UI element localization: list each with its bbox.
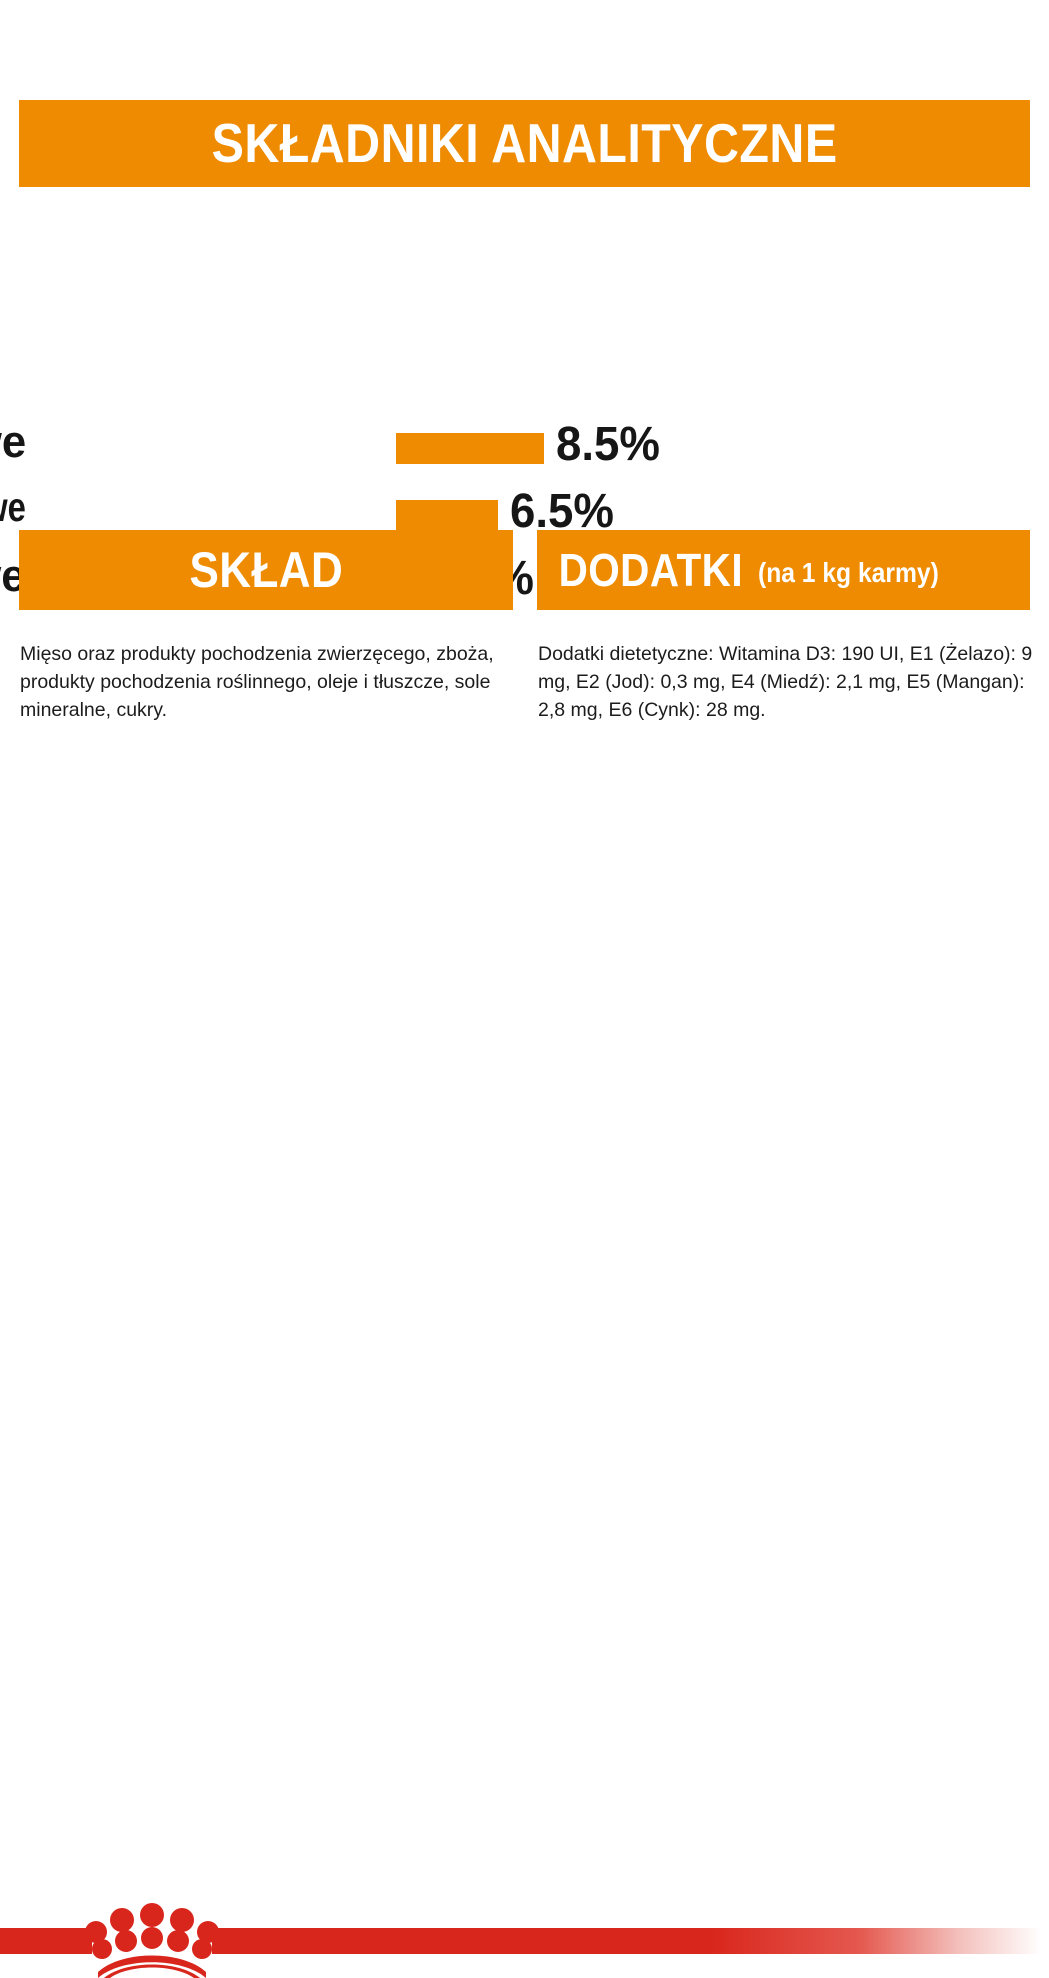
nutrition-value-protein: 8.5%	[556, 421, 660, 469]
analytical-constituents-banner: SKŁADNIKI ANALITYCZNE	[19, 100, 1030, 187]
composition-banner: SKŁAD	[19, 530, 513, 610]
additives-banner: DODATKI (na 1 kg karmy)	[537, 530, 1030, 610]
royal-canin-crown-icon	[82, 1902, 222, 1978]
composition-text: Mięso oraz produkty pochodzenia zwierzęc…	[20, 640, 512, 724]
footer	[0, 952, 1049, 1049]
composition-title: SKŁAD	[189, 545, 343, 595]
additives-title: DODATKI	[559, 547, 743, 593]
table-row: Włókno surowe 1.3%	[0, 208, 720, 209]
nutrition-label-fat: Oleje i tłuszcze surowe	[0, 487, 26, 528]
analytical-constituents-title: SKŁADNIKI ANALITYCZNE	[212, 116, 838, 171]
nutrition-table: Białko surowe 8.5% Oleje i tłuszcze suro…	[0, 206, 720, 209]
footer-rule-right	[212, 1928, 1042, 1954]
nutrition-bar-protein	[396, 433, 544, 464]
nutrition-value-fat: 6.5%	[510, 488, 614, 536]
additives-text: Dodatki dietetyczne: Witamina D3: 190 UI…	[538, 640, 1034, 724]
nutrition-bar-fat	[396, 500, 498, 531]
footer-rule-left	[0, 1928, 92, 1954]
nutrition-label-protein: Białko surowe	[0, 419, 26, 464]
additives-subtitle: (na 1 kg karmy)	[758, 559, 939, 587]
